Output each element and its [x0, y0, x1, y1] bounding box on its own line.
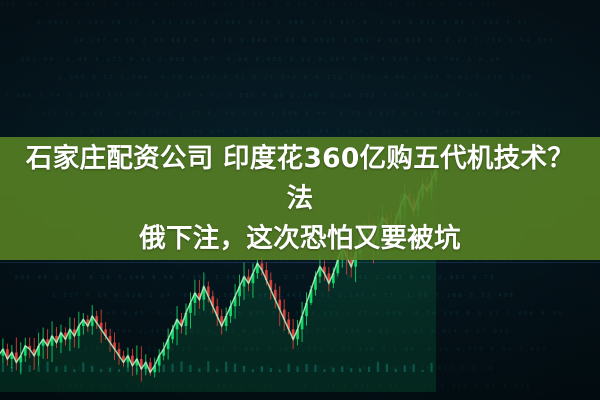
volume-bar [100, 369, 102, 372]
volume-bar [323, 369, 325, 372]
volume-bar [38, 367, 40, 372]
volume-bar [189, 365, 191, 372]
volume-bar [118, 369, 120, 372]
volume-bar [386, 364, 388, 372]
volume-bar [29, 365, 31, 372]
volume-bar [180, 361, 182, 372]
volume-bar [252, 369, 254, 372]
volume-bar [136, 368, 138, 372]
thumbnail-canvas: 3182.44 1.25 0.0471 8,220 -0.33 9912 4.0… [0, 0, 600, 400]
volume-bar [270, 368, 272, 372]
volume-bar [163, 365, 165, 372]
headline-line-2: 俄下注，这次恐怕又要被坑 [18, 219, 582, 259]
volume-bar [368, 367, 370, 372]
volume-bar [430, 363, 432, 372]
volume-bar [243, 366, 245, 372]
volume-bar [413, 364, 415, 372]
volume-bar [234, 364, 236, 372]
volume-bar [288, 364, 290, 372]
volume-bar [73, 369, 75, 372]
volume-bar [207, 361, 209, 372]
volume-bar [341, 366, 343, 372]
volume-bar [314, 365, 316, 372]
volume-bar [279, 370, 281, 372]
volume-bar [82, 362, 84, 372]
volume-bar [422, 370, 424, 372]
volume-bar [332, 368, 334, 372]
volume-bar [55, 366, 57, 372]
volume-bar [261, 366, 263, 372]
volume-bar [171, 364, 173, 372]
volume-bar [404, 365, 406, 372]
volume-bar [46, 361, 48, 372]
headline-line-1: 石家庄配资公司 印度花360亿购五代机技术？法 [18, 139, 582, 219]
volume-bar [20, 361, 22, 372]
volume-bar [109, 368, 111, 372]
headline-banner: 石家庄配资公司 印度花360亿购五代机技术？法 俄下注，这次恐怕又要被坑 [0, 137, 600, 260]
volume-bar [198, 368, 200, 372]
volume-bar [350, 368, 352, 372]
volume-bar [154, 364, 156, 372]
volume-bar [127, 363, 129, 372]
volume-bar [216, 369, 218, 372]
volume-bar [2, 364, 4, 372]
volume-bar [296, 366, 298, 372]
page-title: 石家庄配资公司 印度花360亿购五代机技术？法 俄下注，这次恐怕又要被坑 [18, 139, 582, 259]
volume-bar [145, 361, 147, 372]
volume-bar [64, 365, 66, 372]
volume-bar [11, 367, 13, 372]
volume-bar [395, 369, 397, 372]
volume-bar [91, 366, 93, 372]
volume-bar [377, 362, 379, 372]
volume-bar [305, 364, 307, 372]
volume-bar [225, 362, 227, 372]
volume-bar [359, 368, 361, 372]
